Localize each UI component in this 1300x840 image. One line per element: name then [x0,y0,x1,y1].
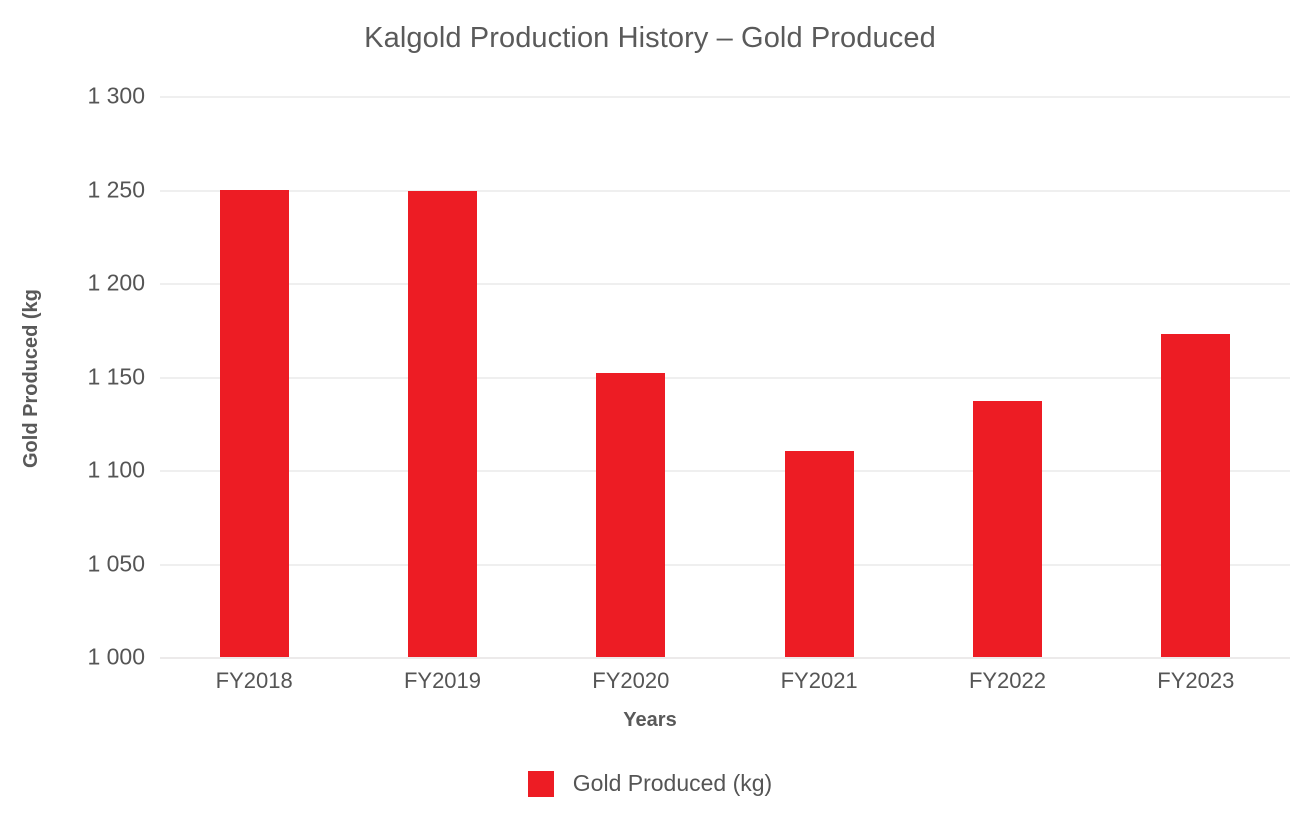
x-axis-tick-label: FY2018 [160,668,348,694]
x-axis-tick-label: FY2023 [1102,668,1290,694]
x-axis-tick-label: FY2020 [537,668,725,694]
y-axis-tick-label: 1 200 [25,270,145,297]
legend-swatch-icon [528,771,554,797]
bar-slot [348,96,536,657]
chart-legend: Gold Produced (kg) [0,770,1300,797]
bar[interactable] [973,401,1042,657]
bar[interactable] [1161,334,1230,658]
y-axis-tick-label: 1 000 [25,644,145,671]
y-axis-tick-label: 1 050 [25,550,145,577]
legend-label: Gold Produced (kg) [573,770,772,797]
x-axis-tick-label: FY2019 [348,668,536,694]
x-axis-tick-label: FY2022 [913,668,1101,694]
y-axis-tick-label: 1 300 [25,83,145,110]
legend-item[interactable]: Gold Produced (kg) [528,770,772,797]
bar-slot [160,96,348,657]
gridline [160,657,1290,659]
y-axis-tick-label: 1 150 [25,363,145,390]
bar[interactable] [785,451,854,657]
bar[interactable] [408,191,477,657]
x-axis-tick-labels: FY2018FY2019FY2020FY2021FY2022FY2023 [160,668,1290,694]
bar-slot [725,96,913,657]
bar-slot [537,96,725,657]
bar-slot [913,96,1101,657]
plot-area [160,96,1290,657]
bar[interactable] [220,190,289,658]
bar-slot [1102,96,1290,657]
bar[interactable] [596,373,665,657]
bar-chart: Kalgold Production History – Gold Produc… [0,0,1300,840]
x-axis-tick-label: FY2021 [725,668,913,694]
chart-title: Kalgold Production History – Gold Produc… [0,22,1300,55]
y-axis-tick-label: 1 250 [25,176,145,203]
x-axis-title: Years [0,709,1300,732]
bars-layer [160,96,1290,657]
y-axis-tick-label: 1 100 [25,457,145,484]
